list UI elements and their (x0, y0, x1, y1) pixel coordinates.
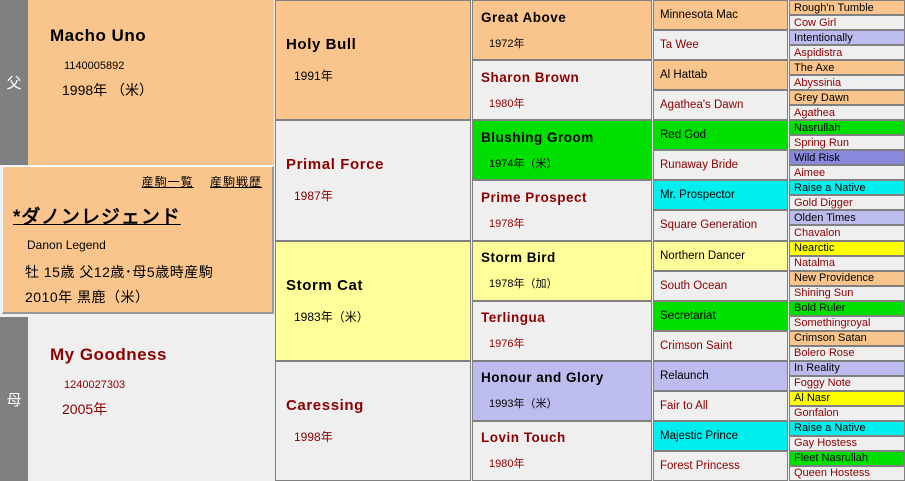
gen5-ancestor-name[interactable]: Shining Sun (794, 287, 853, 299)
gen5-ancestor-cell[interactable]: Aimee (789, 165, 905, 180)
sire-gender-rail: 父 (0, 0, 28, 165)
gen5-ancestor-cell[interactable]: Gold Digger (789, 195, 905, 210)
great-grandparent-cell[interactable]: Blushing Groom1974年（米） (472, 120, 652, 180)
gen5-ancestor-name[interactable]: Rough'n Tumble (794, 2, 874, 14)
gen5-ancestor-name[interactable]: Intentionally (794, 32, 853, 44)
gen5-ancestor-cell[interactable]: Somethingroyal (789, 316, 905, 331)
gen4-ancestor-cell[interactable]: Majestic Prince (653, 421, 788, 451)
gen4-ancestor-name[interactable]: Forest Princess (660, 460, 740, 472)
gen5-ancestor-cell[interactable]: Foggy Note (789, 376, 905, 391)
gen5-ancestor-cell[interactable]: Natalma (789, 256, 905, 271)
great-grandparent-cell[interactable]: Lovin Touch1980年 (472, 421, 652, 481)
gen5-ancestor-cell[interactable]: Al Nasr (789, 391, 905, 406)
gen5-ancestor-cell[interactable]: Nearctic (789, 241, 905, 256)
great-grandparent-year: 1993年（米） (489, 395, 651, 411)
gen4-ancestor-cell[interactable]: Northern Dancer (653, 241, 788, 271)
gen5-ancestor-name[interactable]: Queen Hostess (794, 467, 870, 479)
subject-name[interactable]: *ダノンレジェンド (13, 202, 262, 229)
gen4-ancestor-cell[interactable]: Fair to All (653, 391, 788, 421)
dam-gender-label: 母 (6, 389, 21, 410)
great-grandparent-year: 1976年 (489, 335, 651, 351)
grandparent-year: 1991年 (294, 67, 470, 84)
sire-year: 1998年 （米） (62, 80, 274, 100)
dam-gender-rail: 母 (0, 317, 28, 481)
gen4-ancestor-cell[interactable]: Relaunch (653, 361, 788, 391)
gen4-ancestor-name[interactable]: Minnesota Mac (660, 9, 738, 21)
gen5-ancestor-cell[interactable]: Grey Dawn (789, 90, 905, 105)
great-grandparent-name[interactable]: Storm Bird (481, 250, 651, 265)
grandparent-name[interactable]: Caressing (286, 397, 470, 414)
subject-birth: 2010年 黒鹿（米） (25, 287, 262, 307)
gen5-ancestor-cell[interactable]: Bold Ruler (789, 301, 905, 316)
dam-name[interactable]: My Goodness (50, 345, 274, 365)
great-grandparent-name[interactable]: Sharon Brown (481, 70, 651, 85)
gen5-ancestor-cell[interactable]: Rough'n Tumble (789, 0, 905, 15)
gen5-ancestor-name[interactable]: Gonfalon (794, 407, 839, 419)
progeny-list-link[interactable]: 産駒一覧 (142, 175, 194, 189)
great-grandparent-year: 1972年 (489, 35, 651, 51)
great-grandparent-name[interactable]: Honour and Glory (481, 370, 651, 385)
gen5-ancestor-name[interactable]: Al Nasr (794, 392, 830, 404)
pedigree-chart: 父 母 Macho Uno 1140005892 1998年 （米） My Go… (0, 0, 905, 481)
gen5-ancestor-cell[interactable]: Nasrullah (789, 120, 905, 135)
gen4-ancestor-cell[interactable]: Secretariat (653, 301, 788, 331)
gen4-ancestor-name[interactable]: Agathea's Dawn (660, 99, 743, 111)
gen5-ancestor-name[interactable]: Aimee (794, 167, 825, 179)
great-grandparent-cell[interactable]: Honour and Glory1993年（米） (472, 361, 652, 421)
gen5-ancestor-cell[interactable]: New Providence (789, 271, 905, 286)
gen5-ancestor-name[interactable]: Aspidistra (794, 47, 842, 59)
gen5-ancestor-name[interactable]: Gold Digger (794, 197, 853, 209)
grandparent-name[interactable]: Holy Bull (286, 36, 470, 53)
gen4-ancestor-name[interactable]: Ta Wee (660, 39, 699, 51)
great-grandparent-cell[interactable]: Terlingua1976年 (472, 301, 652, 361)
gen5-ancestor-cell[interactable]: Raise a Native (789, 180, 905, 195)
grandparent-year: 1987年 (294, 187, 470, 204)
gen4-ancestor-name[interactable]: Northern Dancer (660, 250, 745, 262)
grandparent-cell[interactable]: Caressing1998年 (275, 361, 471, 481)
great-grandparent-cell[interactable]: Storm Bird1978年（加） (472, 241, 652, 301)
gen5-ancestor-cell[interactable]: Fleet Nasrullah (789, 451, 905, 466)
gen4-ancestor-cell[interactable]: Forest Princess (653, 451, 788, 481)
gen5-ancestor-cell[interactable]: Aspidistra (789, 45, 905, 60)
subject-details: 牡 15歳 父12歳･母5歳時産駒 (25, 262, 262, 282)
gen4-ancestor-name[interactable]: Red God (660, 129, 706, 141)
great-grandparent-name[interactable]: Prime Prospect (481, 190, 651, 205)
great-grandparent-year: 1974年（米） (489, 155, 651, 171)
gen5-ancestor-name[interactable]: In Reality (794, 362, 840, 374)
grandparent-name[interactable]: Primal Force (286, 156, 470, 173)
great-grandparent-cell[interactable]: Prime Prospect1978年 (472, 180, 652, 240)
gen5-ancestor-name[interactable]: Fleet Nasrullah (794, 452, 868, 464)
gen4-ancestor-cell[interactable]: Mr. Prospector (653, 180, 788, 210)
great-grandparent-cell[interactable]: Sharon Brown1980年 (472, 60, 652, 120)
gen5-ancestor-name[interactable]: Nearctic (794, 242, 834, 254)
grandparent-cell[interactable]: Storm Cat1983年（米） (275, 241, 471, 361)
dam-id: 1240027303 (64, 379, 274, 391)
great-grandparent-year: 1980年 (489, 455, 651, 471)
gen4-ancestor-name[interactable]: Crimson Saint (660, 340, 732, 352)
gen5-ancestor-name[interactable]: Abyssinia (794, 77, 841, 89)
gen5-ancestor-name[interactable]: New Providence (794, 272, 874, 284)
gen5-ancestor-cell[interactable]: Wild Risk (789, 150, 905, 165)
gen5-ancestor-name[interactable]: Agathea (794, 107, 835, 119)
grandparent-name[interactable]: Storm Cat (286, 277, 470, 294)
gen4-ancestor-name[interactable]: Majestic Prince (660, 430, 738, 442)
great-grandparent-name[interactable]: Lovin Touch (481, 430, 651, 445)
sire-gender-label: 父 (6, 72, 21, 93)
gen5-ancestor-cell[interactable]: Gonfalon (789, 406, 905, 421)
gen5-ancestor-cell[interactable]: Raise a Native (789, 421, 905, 436)
gen5-ancestor-name[interactable]: Bold Ruler (794, 302, 845, 314)
great-grandparent-cell[interactable]: Great Above1972年 (472, 0, 652, 60)
gen4-ancestor-cell[interactable]: Agathea's Dawn (653, 90, 788, 120)
gen5-ancestor-cell[interactable]: Crimson Satan (789, 331, 905, 346)
gen5-ancestor-name[interactable]: Spring Run (794, 137, 849, 149)
gen5-ancestor-cell[interactable]: Chavalon (789, 225, 905, 240)
gen5-ancestor-name[interactable]: Natalma (794, 257, 835, 269)
gen4-ancestor-name[interactable]: Runaway Bride (660, 159, 738, 171)
dam-cell[interactable]: My Goodness 1240027303 2005年 (28, 317, 274, 481)
gen5-ancestor-name[interactable]: Olden Times (794, 212, 856, 224)
gen5-ancestor-cell[interactable]: Agathea (789, 105, 905, 120)
sire-cell[interactable]: Macho Uno 1140005892 1998年 （米） (28, 0, 274, 165)
subject-horse-card: 産駒一覧 産駒戦歴 *ダノンレジェンド Danon Legend 牡 15歳 父… (2, 166, 274, 314)
gen5-ancestor-cell[interactable]: Olden Times (789, 210, 905, 225)
gen5-ancestor-name[interactable]: Raise a Native (794, 422, 866, 434)
great-grandparent-name[interactable]: Terlingua (481, 310, 651, 325)
gen5-ancestor-cell[interactable]: Bolero Rose (789, 346, 905, 361)
gen5-ancestor-cell[interactable]: Intentionally (789, 30, 905, 45)
gen5-ancestor-name[interactable]: Bolero Rose (794, 347, 855, 359)
gen5-ancestor-cell[interactable]: Cow Girl (789, 15, 905, 30)
gen4-ancestor-name[interactable]: Square Generation (660, 219, 757, 231)
gen5-ancestor-name[interactable]: Cow Girl (794, 17, 836, 29)
gen4-ancestor-name[interactable]: Fair to All (660, 400, 708, 412)
gen4-ancestor-cell[interactable]: Ta Wee (653, 30, 788, 60)
gen5-ancestor-name[interactable]: Raise a Native (794, 182, 866, 194)
gen4-ancestor-name[interactable]: Al Hattab (660, 69, 707, 81)
gen5-ancestor-cell[interactable]: Abyssinia (789, 75, 905, 90)
gen5-ancestor-cell[interactable]: Shining Sun (789, 286, 905, 301)
gen4-ancestor-cell[interactable]: Al Hattab (653, 60, 788, 90)
gen5-ancestor-name[interactable]: Crimson Satan (794, 332, 867, 344)
gen5-ancestor-name[interactable]: Foggy Note (794, 377, 851, 389)
subject-name-en: Danon Legend (27, 238, 262, 252)
gen4-ancestor-name[interactable]: Mr. Prospector (660, 189, 735, 201)
gen5-ancestor-cell[interactable]: Spring Run (789, 135, 905, 150)
gen5-ancestor-cell[interactable]: Gay Hostess (789, 436, 905, 451)
sire-name[interactable]: Macho Uno (50, 26, 274, 46)
gen4-ancestor-cell[interactable]: Red God (653, 120, 788, 150)
grandparent-year: 1998年 (294, 428, 470, 445)
great-grandparent-year: 1978年（加） (489, 275, 651, 291)
progeny-record-link[interactable]: 産駒戦歴 (210, 175, 262, 189)
great-grandparent-name[interactable]: Great Above (481, 10, 651, 25)
gen4-ancestor-cell[interactable]: Square Generation (653, 210, 788, 240)
gen5-ancestor-name[interactable]: The Axe (794, 62, 834, 74)
gen4-ancestor-cell[interactable]: Minnesota Mac (653, 0, 788, 30)
dam-year: 2005年 (62, 399, 274, 419)
gen5-ancestor-name[interactable]: Chavalon (794, 227, 840, 239)
gen4-ancestor-name[interactable]: Secretariat (660, 310, 716, 322)
grandparent-year: 1983年（米） (294, 308, 470, 325)
gen4-ancestor-name[interactable]: Relaunch (660, 370, 709, 382)
gen5-ancestor-cell[interactable]: Queen Hostess (789, 466, 905, 481)
grandparent-cell[interactable]: Holy Bull1991年 (275, 0, 471, 120)
gen4-ancestor-name[interactable]: South Ocean (660, 280, 727, 292)
great-grandparent-year: 1980年 (489, 95, 651, 111)
gen4-ancestor-cell[interactable]: Runaway Bride (653, 150, 788, 180)
gen5-ancestor-cell[interactable]: In Reality (789, 361, 905, 376)
gen5-ancestor-name[interactable]: Somethingroyal (794, 317, 870, 329)
subject-links: 産駒一覧 産駒戦歴 (13, 173, 262, 190)
great-grandparent-year: 1978年 (489, 215, 651, 231)
gen5-ancestor-cell[interactable]: The Axe (789, 60, 905, 75)
gen5-ancestor-name[interactable]: Nasrullah (794, 122, 840, 134)
gen5-ancestor-name[interactable]: Gay Hostess (794, 437, 857, 449)
gen5-ancestor-name[interactable]: Wild Risk (794, 152, 840, 164)
sire-id: 1140005892 (64, 60, 274, 72)
gen5-ancestor-name[interactable]: Grey Dawn (794, 92, 849, 104)
gen4-ancestor-cell[interactable]: Crimson Saint (653, 331, 788, 361)
grandparent-cell[interactable]: Primal Force1987年 (275, 120, 471, 240)
gen4-ancestor-cell[interactable]: South Ocean (653, 271, 788, 301)
great-grandparent-name[interactable]: Blushing Groom (481, 130, 651, 145)
